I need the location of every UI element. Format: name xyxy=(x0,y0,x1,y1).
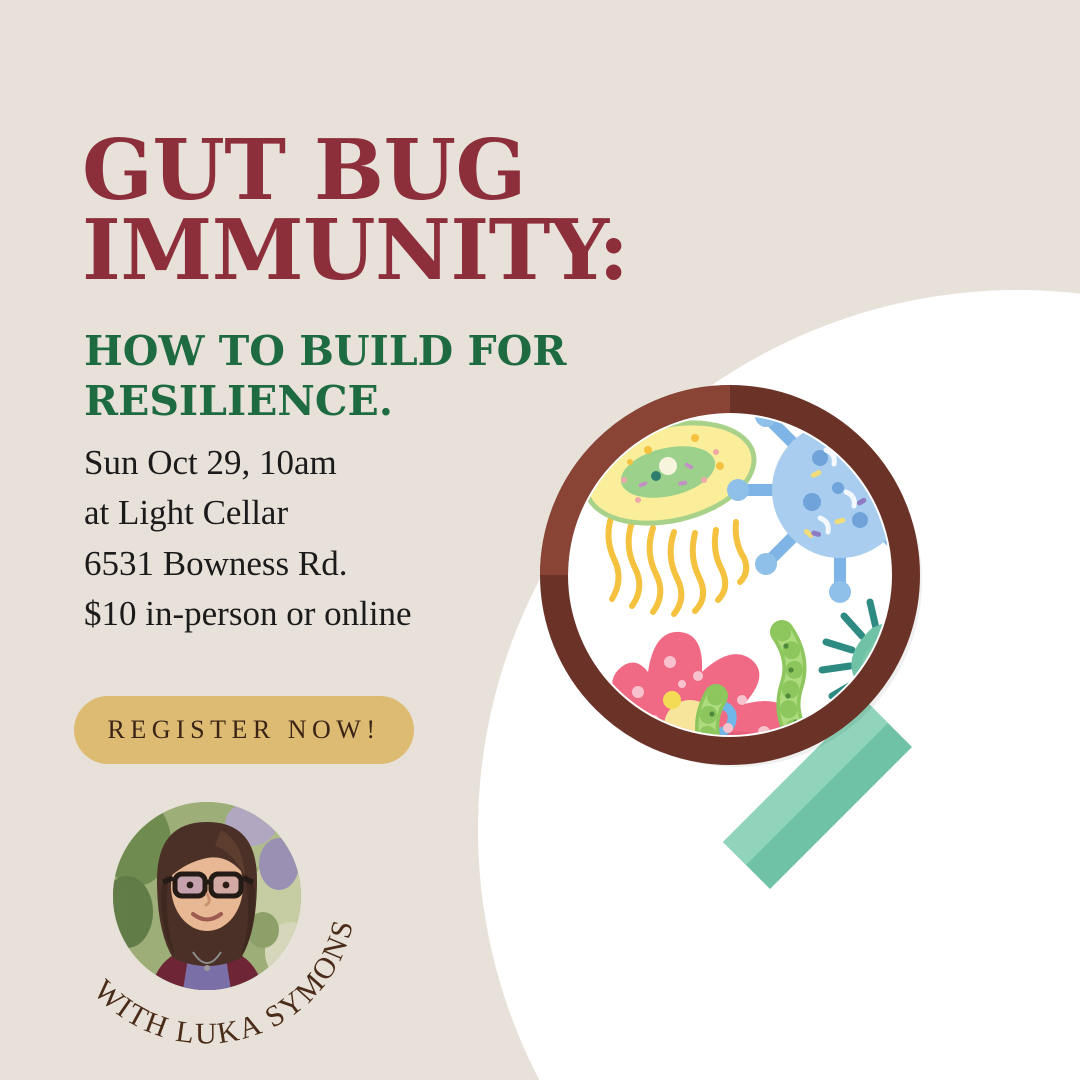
event-address: 6531 Bowness Rd. xyxy=(84,539,412,589)
magnifying-glass-with-microbes-illustration xyxy=(520,370,1080,970)
page-title: Gut Bug Immunity: xyxy=(82,130,722,291)
title-line-1: Gut Bug xyxy=(82,130,722,211)
event-details: Sun Oct 29, 10am at Light Cellar 6531 Bo… xyxy=(84,438,412,640)
presenter-avatar: Portrait of Luka Symons smiling, wearing… xyxy=(113,802,301,990)
register-now-button[interactable]: Register Now! xyxy=(74,696,414,764)
event-venue: at Light Cellar xyxy=(84,488,412,538)
subtitle-line-2: resilience. xyxy=(84,376,644,426)
event-poster: Gut Bug Immunity: How to build for resil… xyxy=(0,0,1080,1080)
page-subtitle: How to build for resilience. xyxy=(84,326,644,426)
event-datetime: Sun Oct 29, 10am xyxy=(84,438,412,488)
title-line-2: Immunity: xyxy=(82,210,722,291)
subtitle-line-1: How to build for xyxy=(84,326,644,376)
event-price: $10 in-person or online xyxy=(84,589,412,639)
